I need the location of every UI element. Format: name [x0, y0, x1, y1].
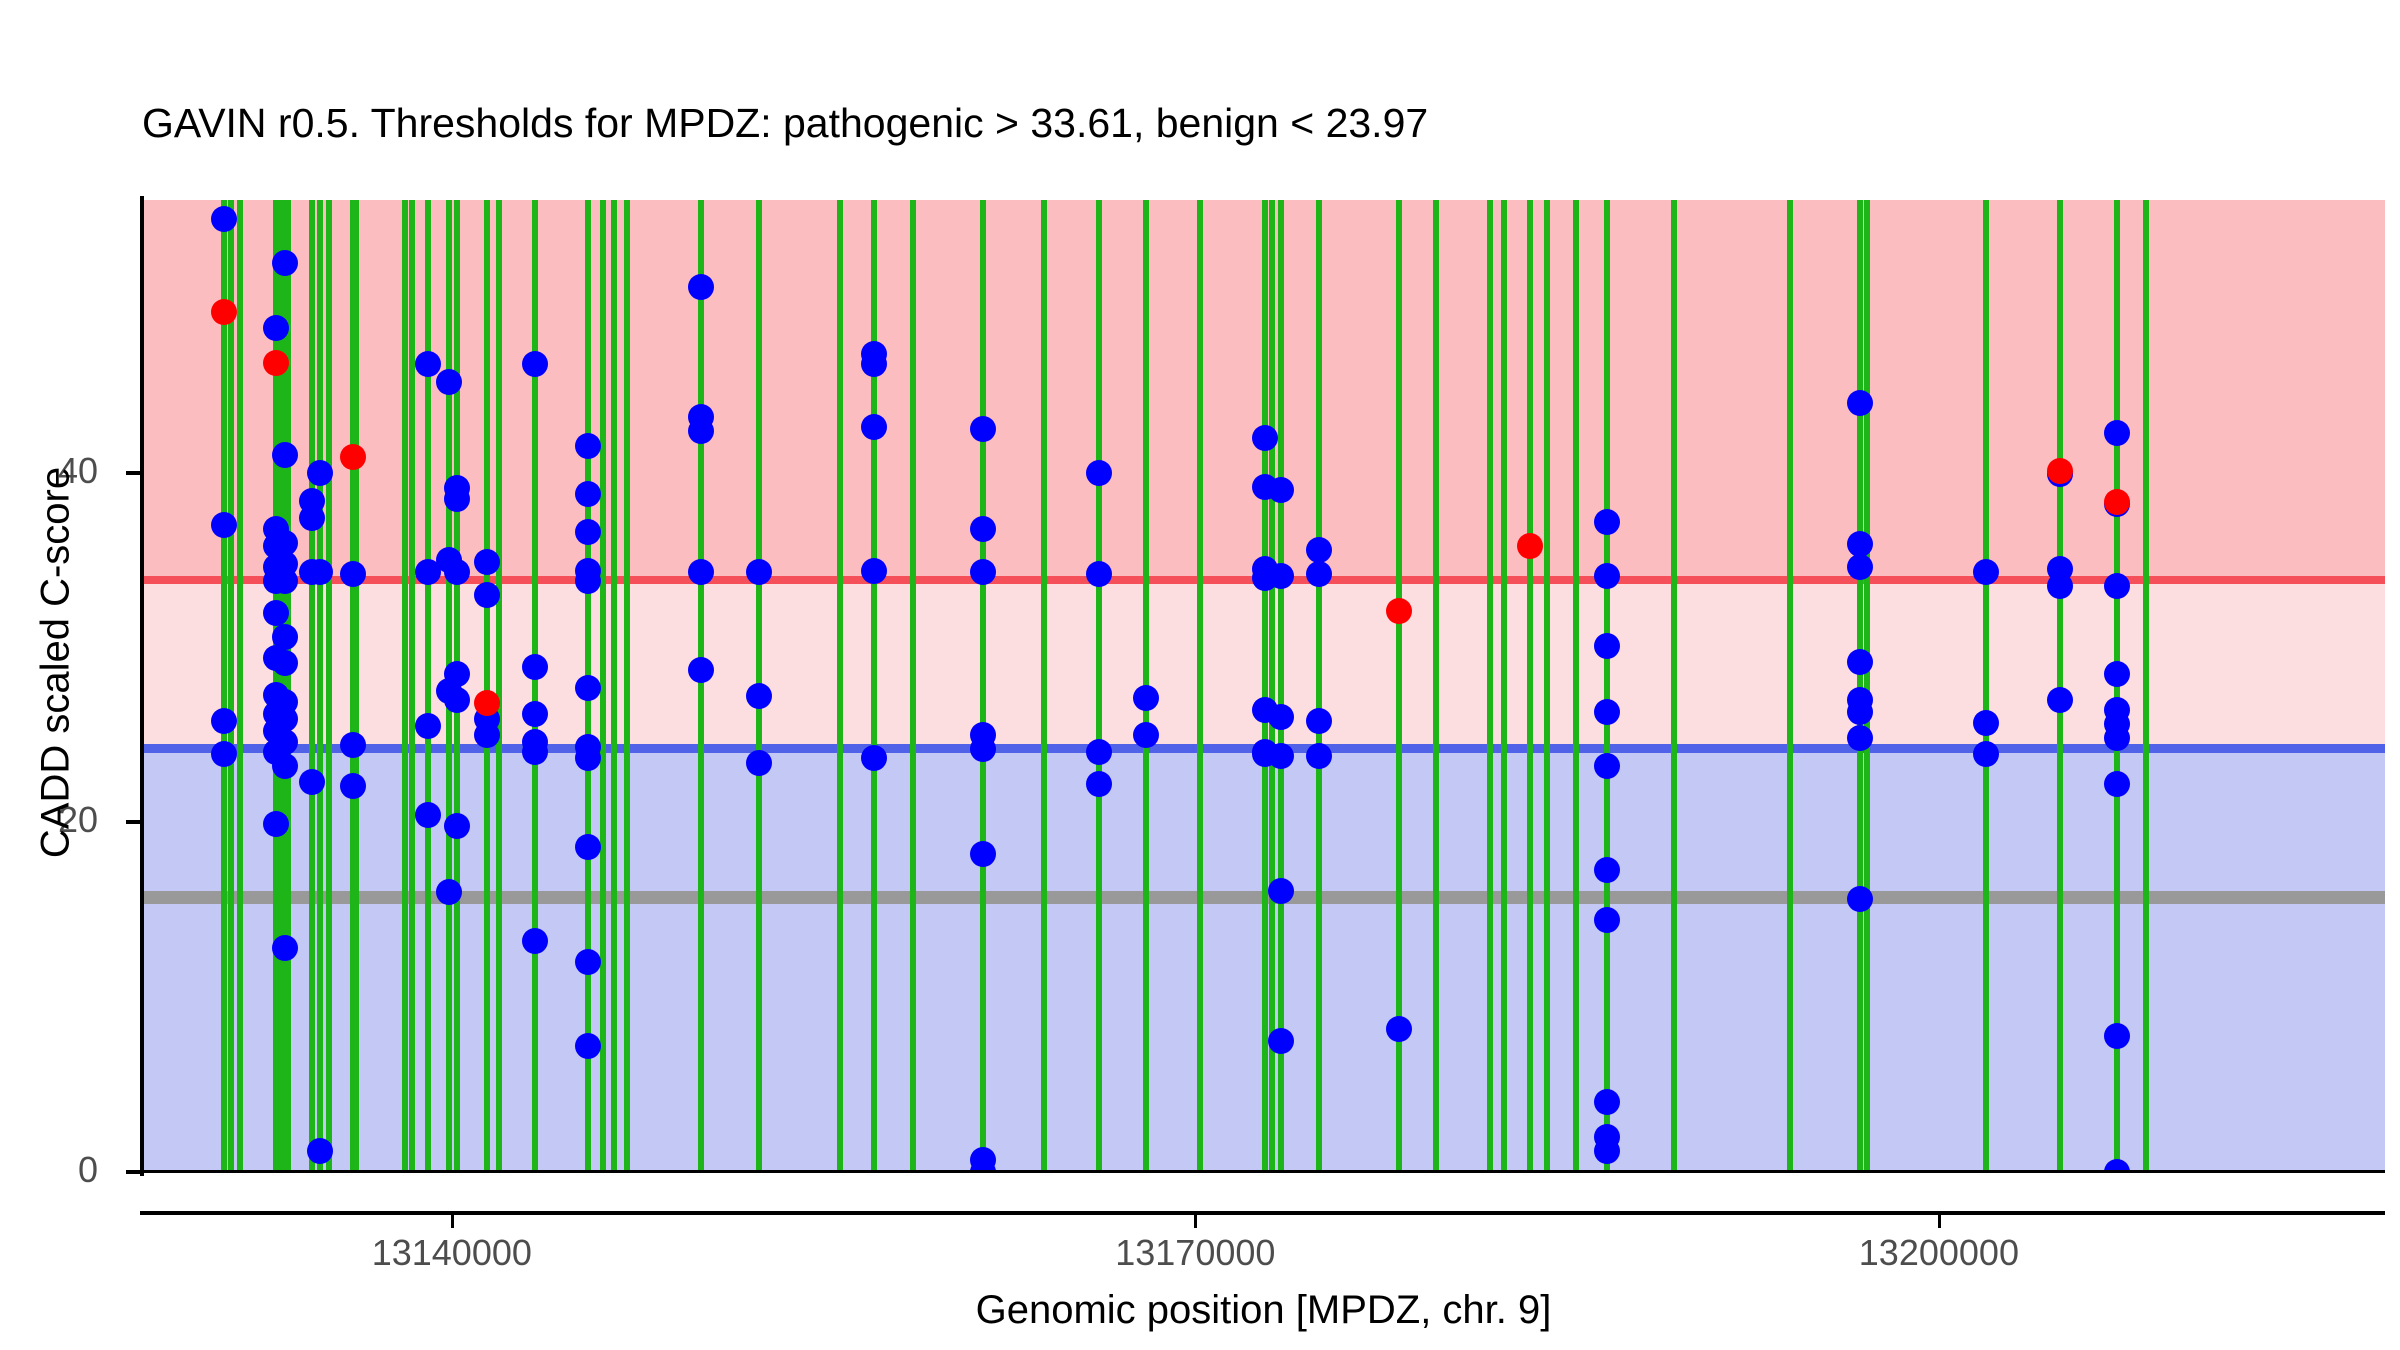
refseq-exon-line	[1278, 200, 1284, 1172]
gnomad-variant-point	[1847, 725, 1873, 751]
x-tick-mark	[1938, 1215, 1941, 1228]
refseq-exon-line	[1671, 200, 1677, 1172]
gnomad-variant-point	[575, 675, 601, 701]
gnomad-variant-point	[211, 741, 237, 767]
gnomad-variant-point	[272, 624, 298, 650]
clinvar-pathogenic-point	[474, 690, 500, 716]
gnomad-variant-point	[522, 351, 548, 377]
y-tick-label: 0	[78, 1149, 98, 1191]
gnomad-variant-point	[1973, 741, 1999, 767]
refseq-exon-line	[837, 200, 843, 1172]
refseq-exon-line	[326, 200, 332, 1172]
gnomad-variant-point	[263, 811, 289, 837]
gnomad-variant-point	[1086, 460, 1112, 486]
gnomad-variant-point	[272, 729, 298, 755]
refseq-exon-line	[317, 200, 323, 1172]
gnomad-variant-point	[1594, 563, 1620, 589]
gnomad-variant-point	[272, 753, 298, 779]
x-tick-mark	[1194, 1215, 1197, 1228]
gnomad-variant-point	[2104, 1023, 2130, 1049]
gnomad-variant-point	[1268, 477, 1294, 503]
refseq-exon-line	[353, 200, 359, 1172]
gnomad-variant-point	[263, 315, 289, 341]
refseq-exon-line	[425, 200, 431, 1172]
gnomad-variant-point	[444, 661, 470, 687]
refseq-exon-line	[1041, 200, 1047, 1172]
refseq-exon-line	[1262, 200, 1268, 1172]
gnomad-variant-point	[1594, 1138, 1620, 1164]
gnomad-variant-point	[299, 505, 325, 531]
gnomad-variant-point	[272, 568, 298, 594]
gnomad-variant-point	[444, 687, 470, 713]
refseq-exon-line	[1573, 200, 1579, 1172]
clinvar-pathogenic-point	[1517, 533, 1543, 559]
refseq-exon-line	[1983, 200, 1989, 1172]
gnomad-variant-point	[1594, 857, 1620, 883]
gnomad-variant-point	[1594, 907, 1620, 933]
gnomad-variant-point	[1133, 685, 1159, 711]
gnomad-variant-point	[444, 559, 470, 585]
refseq-exon-line	[1096, 200, 1102, 1172]
refseq-exon-line	[2143, 200, 2149, 1172]
gnomad-variant-point	[2104, 420, 2130, 446]
gnomad-variant-point	[211, 512, 237, 538]
gnomad-variant-point	[1252, 425, 1278, 451]
gnomad-variant-point	[263, 600, 289, 626]
gnomad-variant-point	[1268, 1028, 1294, 1054]
gnomad-variant-point	[436, 369, 462, 395]
gnomad-variant-point	[688, 657, 714, 683]
refseq-exon-line	[484, 200, 490, 1172]
gnomad-variant-point	[1306, 743, 1332, 769]
refseq-exon-line	[409, 200, 415, 1172]
gnomad-variant-point	[1594, 1089, 1620, 1115]
chart-root: GAVIN r0.5. Thresholds for MPDZ: pathoge…	[0, 0, 2400, 1350]
gnomad-variant-point	[1086, 561, 1112, 587]
gnomad-variant-point	[444, 486, 470, 512]
gnomad-variant-point	[688, 418, 714, 444]
refseq-exon-line	[2057, 200, 2063, 1172]
gnomad-variant-point	[272, 650, 298, 676]
refseq-exon-line	[221, 200, 227, 1172]
gnomad-variant-point	[1847, 390, 1873, 416]
gnomad-variant-point	[1847, 886, 1873, 912]
gnomad-variant-point	[1268, 743, 1294, 769]
refseq-exon-line	[1864, 200, 1870, 1172]
refseq-exon-line	[1487, 200, 1493, 1172]
gnomad-variant-point	[1847, 699, 1873, 725]
gnomad-variant-point	[272, 935, 298, 961]
gnomad-variant-point	[522, 928, 548, 954]
gnomad-variant-point	[1594, 753, 1620, 779]
y-tick-mark	[126, 820, 140, 824]
refseq-exon-line	[532, 200, 538, 1172]
gnomad-variant-point	[299, 769, 325, 795]
gnomad-variant-point	[522, 654, 548, 680]
gnomad-variant-point	[522, 701, 548, 727]
refseq-exon-line	[980, 200, 986, 1172]
gnomad-variant-point	[1086, 739, 1112, 765]
gnomad-variant-point	[474, 722, 500, 748]
refseq-exon-line	[1527, 200, 1533, 1172]
y-tick-mark	[126, 471, 140, 475]
gnomad-variant-point	[1847, 649, 1873, 675]
gnomad-variant-point	[1306, 537, 1332, 563]
gnomad-variant-point	[340, 732, 366, 758]
clinvar-pathogenic-point	[263, 350, 289, 376]
gnomad-variant-point	[1594, 633, 1620, 659]
gnomad-variant-point	[340, 773, 366, 799]
clinvar-pathogenic-point	[340, 444, 366, 470]
x-axis-line	[140, 1211, 2385, 1215]
clinvar-pathogenic-point	[1386, 598, 1412, 624]
y-axis-title: CADD scaled C-score	[34, 283, 79, 1043]
gnomad-variant-point	[861, 745, 887, 771]
gnomad-variant-point	[1268, 878, 1294, 904]
refseq-exon-line	[1197, 200, 1203, 1172]
refseq-exon-line	[1269, 200, 1275, 1172]
gnomad-variant-point	[211, 206, 237, 232]
refseq-exon-line	[611, 200, 617, 1172]
refseq-exon-line	[496, 200, 502, 1172]
y-tick-mark	[126, 1170, 140, 1174]
gnomad-variant-point	[1268, 563, 1294, 589]
gnomad-variant-point	[746, 750, 772, 776]
gnomad-variant-point	[575, 834, 601, 860]
refseq-exon-line	[698, 200, 704, 1172]
gnomad-variant-point	[1086, 771, 1112, 797]
refseq-exon-line	[237, 200, 243, 1172]
refseq-exon-line	[402, 200, 408, 1172]
gnomad-variant-point	[1973, 710, 1999, 736]
gnomad-variant-point	[211, 708, 237, 734]
title-line-1: GAVIN r0.5. Thresholds for MPDZ: pathoge…	[142, 100, 2382, 147]
gnomad-variant-point	[1386, 1016, 1412, 1042]
refseq-exon-line	[1316, 200, 1322, 1172]
gnomad-variant-point	[1847, 554, 1873, 580]
refseq-exon-line	[1604, 200, 1610, 1172]
gnomad-variant-point	[444, 813, 470, 839]
refseq-exon-line	[228, 200, 234, 1172]
gnomad-variant-point	[575, 481, 601, 507]
refseq-exon-line	[309, 200, 315, 1172]
gnomad-variant-point	[272, 442, 298, 468]
plot-panel	[142, 200, 2385, 1172]
gnomad-variant-point	[340, 561, 366, 587]
gnomad-variant-point	[1594, 699, 1620, 725]
x-tick-label: 13170000	[1115, 1232, 1275, 1274]
gnomad-variant-point	[861, 558, 887, 584]
panel-bottom-edge	[142, 1170, 2385, 1173]
y-axis-line	[140, 196, 144, 1176]
gnomad-variant-point	[970, 516, 996, 542]
gnomad-variant-point	[474, 582, 500, 608]
refseq-exon-line	[1433, 200, 1439, 1172]
refseq-exon-line	[1787, 200, 1793, 1172]
gnomad-variant-point	[474, 549, 500, 575]
x-tick-label: 13200000	[1859, 1232, 2019, 1274]
gnomad-variant-point	[1594, 509, 1620, 535]
refseq-exon-line	[1544, 200, 1550, 1172]
clinvar-pathogenic-point	[211, 299, 237, 325]
gnomad-variant-point	[2104, 661, 2130, 687]
refseq-exon-line	[624, 200, 630, 1172]
x-tick-label: 13140000	[372, 1232, 532, 1274]
gnomad-variant-point	[307, 460, 333, 486]
gnomad-variant-point	[1133, 722, 1159, 748]
gnomad-variant-point	[272, 250, 298, 276]
x-axis-title: Genomic position [MPDZ, chr. 9]	[142, 1288, 2385, 1333]
gnomad-variant-point	[575, 745, 601, 771]
refseq-exon-line	[1501, 200, 1507, 1172]
x-tick-mark	[451, 1215, 454, 1228]
refseq-exon-line	[910, 200, 916, 1172]
